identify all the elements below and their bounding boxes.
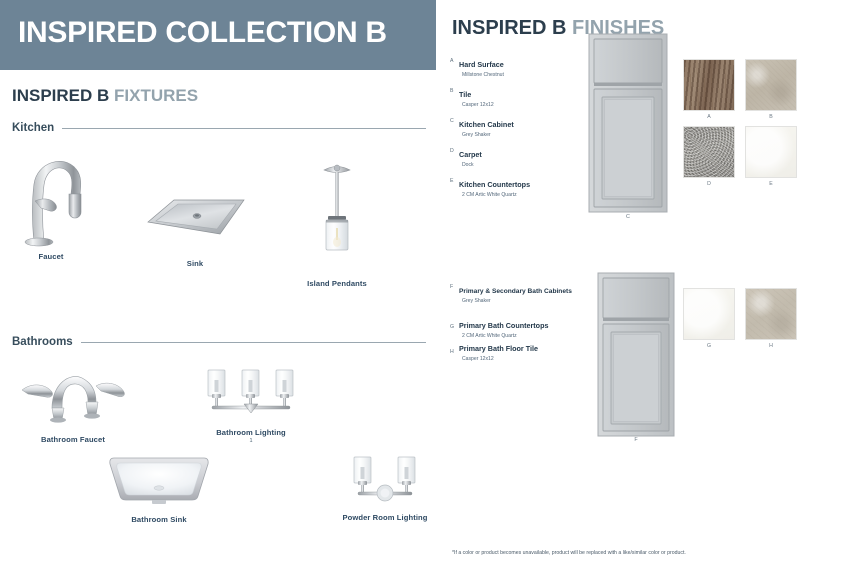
swatch-hard-surface: A (683, 59, 735, 111)
cabinet-label-c: C (588, 214, 668, 220)
section-rule (81, 342, 426, 343)
swatch-countertop: E (745, 126, 797, 178)
legend-name: Primary Bath Countertops (459, 321, 548, 330)
fixture-caption: Bathroom Lighting (196, 428, 306, 437)
kitchen-faucet-icon (8, 142, 94, 247)
swatch-tile (683, 288, 735, 340)
legend-desc: Casper 12x12 (459, 102, 494, 109)
legend-name: Carpet (459, 150, 482, 159)
swatch-label: E (745, 181, 797, 187)
fixture-island-pendant: Island Pendants (302, 158, 372, 288)
legend-key: E (450, 174, 459, 184)
legend-name: Tile (459, 90, 471, 99)
section-rule (62, 128, 426, 129)
swatch-bath-countertop: G (683, 288, 735, 340)
legend-desc: Grey Shaker (459, 298, 572, 305)
fixture-caption: Powder Room Lighting (330, 513, 440, 522)
cabinet-label-f: F (597, 437, 675, 443)
legend-name: Kitchen Cabinet (459, 120, 514, 129)
fixture-caption: Bathroom Faucet (8, 435, 138, 444)
collection-board: INSPIRED COLLECTION B INSPIRED B FIXTURE… (0, 0, 853, 569)
swatch-tile (683, 126, 735, 178)
swatch-tile (745, 288, 797, 340)
fixture-caption: Sink (140, 259, 250, 268)
fixture-caption: Faucet (8, 252, 94, 261)
fixture-caption: Island Pendants (302, 279, 372, 288)
section-label-kitchen: Kitchen (12, 122, 62, 134)
swatch-label: B (745, 114, 797, 120)
legend-name: Primary Bath Floor Tile (459, 344, 538, 353)
swatch-tile (745, 126, 797, 178)
bathroom-faucet-icon (8, 358, 138, 428)
legend-key: B (450, 84, 459, 94)
legend-item: H Primary Bath Floor Tile Casper 12x12 (450, 338, 582, 363)
legend-key: G (450, 315, 459, 330)
section-header-kitchen: Kitchen (12, 122, 426, 134)
legend-item: C Kitchen Cabinet Grey Shaker (450, 114, 590, 139)
fixtures-subtitle-collection: INSPIRED B (12, 86, 109, 105)
fixture-bathroom-lighting: Bathroom Lighting 1 (196, 368, 306, 444)
swatch-tile (683, 59, 735, 111)
finishes-legend-bottom: F Primary & Secondary Bath Cabinets Grey… (450, 280, 582, 368)
fixture-subcaption: 1 (196, 438, 306, 444)
swatch-carpet: D (683, 126, 735, 178)
legend-item: G Primary Bath Countertops 2 CM Artic Wh… (450, 315, 582, 340)
legend-desc: Grey Shaker (459, 132, 514, 139)
legend-item: F Primary & Secondary Bath Cabinets Grey… (450, 280, 582, 305)
swatch-tile (745, 59, 797, 111)
swatch-label: H (745, 343, 797, 349)
fixture-bathroom-faucet: Bathroom Faucet (8, 358, 138, 444)
page-title: INSPIRED COLLECTION B (18, 16, 387, 50)
finishes-title-collection: INSPIRED B (452, 17, 566, 39)
legend-key: F (450, 280, 459, 290)
fixtures-subtitle: INSPIRED B FIXTURES (12, 86, 198, 106)
legend-key: A (450, 54, 459, 64)
fixture-bathroom-sink: Bathroom Sink (100, 452, 218, 524)
pendant-light-icon (302, 158, 372, 270)
disclaimer-footnote: *If a color or product becomes unavailab… (452, 550, 686, 556)
legend-item: D Carpet Dock (450, 144, 590, 169)
fixture-kitchen-faucet: Faucet (8, 142, 94, 261)
legend-item: B Tile Casper 12x12 (450, 84, 590, 109)
legend-key: D (450, 144, 459, 154)
section-header-bathrooms: Bathrooms (12, 336, 426, 348)
legend-desc: Millstone Chestnut (459, 72, 504, 79)
legend-desc: 2 CM Artic White Quartz (459, 192, 530, 199)
swatch-bath-floor-tile: H (745, 288, 797, 340)
legend-desc: Casper 12x12 (459, 356, 538, 363)
swatch-label: D (683, 181, 735, 187)
section-label-bathrooms: Bathrooms (12, 336, 81, 348)
legend-desc: Dock (459, 162, 482, 169)
fixture-kitchen-sink: Sink (140, 190, 250, 268)
vanity-light-2-icon (330, 455, 440, 505)
legend-item: E Kitchen Countertops 2 CM Artic White Q… (450, 174, 590, 199)
swatch-label: G (683, 343, 735, 349)
finishes-legend-top: A Hard Surface Millstone Chestnut B Tile… (450, 54, 590, 205)
kitchen-cabinet-image (588, 33, 668, 213)
fixtures-subtitle-word: FIXTURES (114, 86, 198, 105)
swatch-tile: B (745, 59, 797, 111)
legend-name: Kitchen Countertops (459, 180, 530, 189)
bath-cabinet-image (597, 272, 675, 437)
fixture-caption: Bathroom Sink (100, 515, 218, 524)
fixture-powder-room-lighting: Powder Room Lighting (330, 455, 440, 522)
legend-item: A Hard Surface Millstone Chestnut (450, 54, 590, 79)
legend-key: C (450, 114, 459, 124)
bathroom-sink-icon (100, 452, 218, 507)
legend-key: H (450, 338, 459, 355)
vanity-light-3-icon (196, 368, 306, 420)
legend-name: Hard Surface (459, 60, 504, 69)
legend-name: Primary & Secondary Bath Cabinets (459, 288, 572, 295)
kitchen-sink-icon (140, 190, 250, 250)
swatch-label: A (683, 114, 735, 120)
